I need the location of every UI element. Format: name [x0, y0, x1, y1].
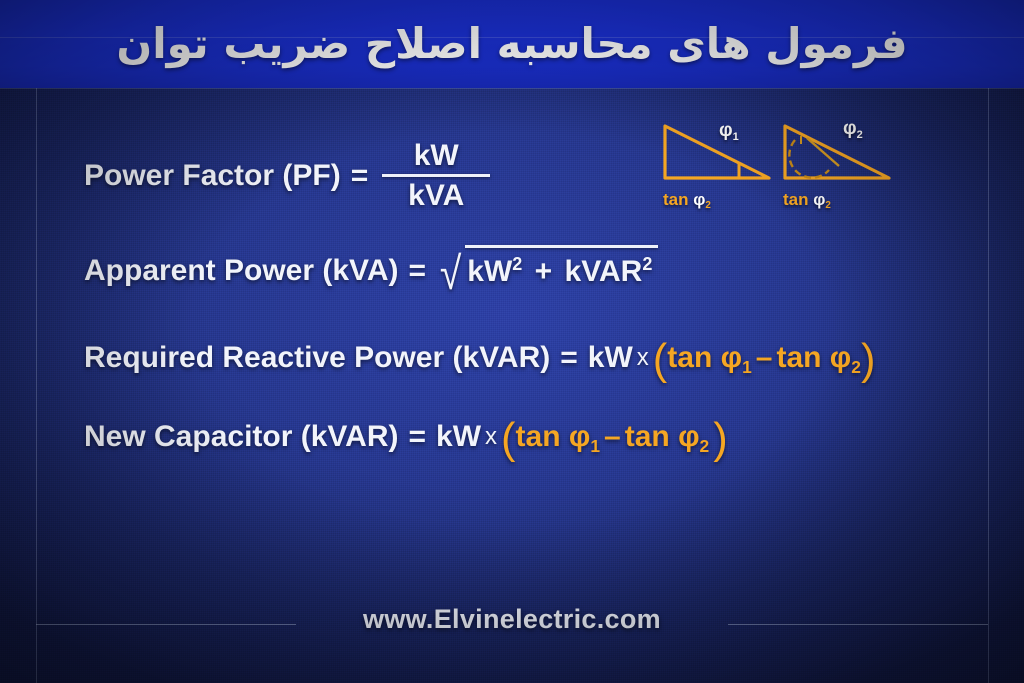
triangle-phi2-angle-label: φ2 [843, 118, 863, 140]
open-paren: ( [501, 422, 516, 457]
fraction-denominator: kVA [398, 177, 474, 212]
multiplier-kw: kW [426, 420, 481, 454]
tan-difference-group: ( tan φ1 – tan φ2 ) [501, 420, 728, 455]
fraction-kw-over-kva: kW kVA [382, 140, 490, 213]
triangle-phi2-icon [781, 118, 901, 190]
slide-canvas: فرمول های محاسبه اصلاح ضریب توان Power F… [0, 0, 1024, 683]
fraction-numerator: kW [404, 140, 469, 174]
header-banner: فرمول های محاسبه اصلاح ضریب توان [0, 0, 1024, 88]
formula-label: New Capacitor (kVAR) [84, 420, 399, 454]
close-paren: ) [861, 343, 876, 378]
equals-sign: = [550, 341, 578, 375]
radical-sign-icon: √ [440, 250, 461, 296]
formula-power-factor: Power Factor (PF) = kW kVA [84, 140, 490, 213]
square-root-expression: √ kW2 + kVAR2 [438, 248, 656, 294]
radicand-term-1: kW [467, 255, 512, 288]
tan-difference-group: ( tan φ1 – tan φ2 ) [653, 341, 876, 376]
website-url: www.Elvinelectric.com [0, 604, 1024, 635]
multiplication-sign: x [481, 423, 501, 451]
formula-label: Apparent Power (kVA) [84, 254, 399, 288]
formula-apparent-power: Apparent Power (kVA) = √ kW2 + kVAR2 [84, 248, 656, 294]
minus-sign: – [752, 341, 777, 375]
frame-line-right [988, 88, 989, 683]
triangle-phi2-caption: tan φ2 [783, 190, 831, 210]
multiplier-kw: kW [578, 341, 633, 375]
formula-required-reactive-power: Required Reactive Power (kVAR) = kW x ( … [84, 341, 875, 376]
radicand-exponent-2: 2 [642, 254, 652, 274]
triangle-phi1-caption: tan φ2 [663, 190, 711, 210]
formula-label: Required Reactive Power (kVAR) [84, 341, 550, 375]
equals-sign: = [399, 420, 427, 454]
formula-label: Power Factor (PF) [84, 159, 341, 193]
minus-sign: – [600, 420, 625, 454]
radicand-exponent-1: 2 [512, 254, 522, 274]
open-paren: ( [653, 343, 668, 378]
page-title: فرمول های محاسبه اصلاح ضریب توان [0, 4, 1024, 84]
tan-phi1-term: tan φ1 [516, 420, 600, 454]
multiplication-sign: x [633, 344, 653, 372]
radicand-term-2: kVAR [565, 255, 643, 288]
frame-line-left [36, 88, 37, 683]
tan-phi2-term: tan φ2 [776, 341, 860, 375]
phasor-triangle-diagrams: φ1 tan φ2 φ2 tan φ2 [655, 118, 917, 222]
triangle-phi2-group: φ2 tan φ2 [781, 118, 901, 222]
formula-new-capacitor: New Capacitor (kVAR) = kW x ( tan φ1 – t… [84, 420, 728, 455]
radicand: kW2 + kVAR2 [465, 253, 656, 289]
frame-line-top [0, 88, 1024, 89]
triangle-phi1-angle-label: φ1 [719, 120, 739, 142]
triangle-phi1-group: φ1 tan φ2 [661, 118, 781, 222]
equals-sign: = [341, 159, 369, 193]
tan-phi2-term: tan φ2 [625, 420, 709, 454]
equals-sign: = [399, 254, 427, 288]
tan-phi1-term: tan φ1 [667, 341, 751, 375]
plus-sign: + [531, 255, 557, 288]
close-paren: ) [709, 422, 728, 457]
